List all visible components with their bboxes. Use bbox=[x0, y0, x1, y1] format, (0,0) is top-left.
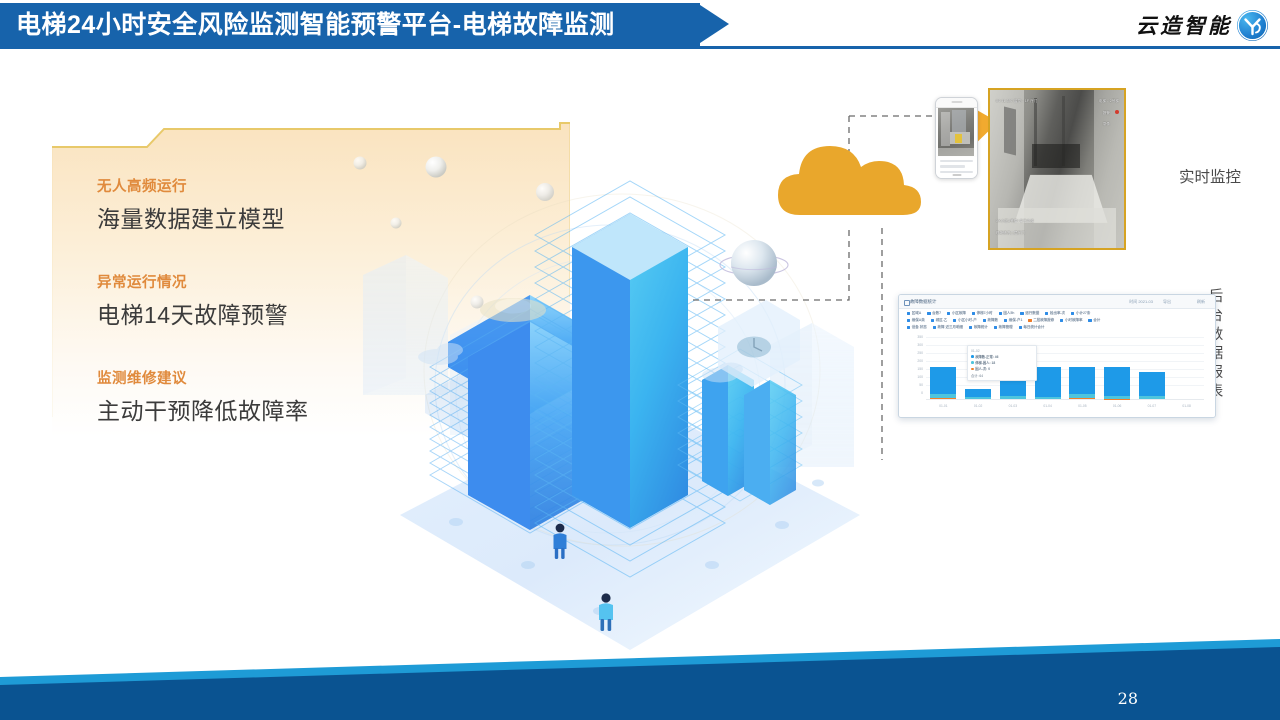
y-tick: 0 bbox=[907, 391, 923, 395]
filter-chip[interactable]: 停梯7小时 bbox=[972, 311, 993, 316]
bar-segment bbox=[1139, 372, 1165, 396]
slide: 电梯24小时安全风险监测智能预警平台-电梯故障监测 云造智能 bbox=[0, 0, 1280, 720]
filter-chip[interactable]: 小区小时-户 bbox=[953, 318, 976, 323]
filter-chip[interactable]: 台数7 bbox=[927, 311, 941, 316]
phone-info-panel bbox=[936, 157, 977, 178]
tooltip-header: 01-02 bbox=[971, 349, 1033, 353]
dashboard-window-title: 故障数据统计 bbox=[910, 299, 936, 305]
tooltip-item: 困人-次: 0 bbox=[971, 366, 1033, 371]
phone-info-line bbox=[940, 160, 973, 162]
y-tick: 150 bbox=[907, 367, 923, 371]
filter-chip[interactable]: 故障数 bbox=[983, 318, 998, 323]
header-rule bbox=[0, 46, 1280, 49]
filter-chip[interactable]: 小区故障 bbox=[947, 311, 966, 316]
bar-segment bbox=[1139, 396, 1165, 400]
bar-column[interactable] bbox=[1104, 343, 1130, 399]
chart-tooltip: 01-02 故障数-正常: 46 停梯-困人: 18 困人-次: 0 合计: 6… bbox=[967, 345, 1037, 381]
filter-chip[interactable]: 每日统计合计 bbox=[1019, 325, 1045, 330]
realtime-monitor-label: 实时监控 bbox=[1179, 165, 1241, 187]
filter-chip[interactable]: 设备 状态 bbox=[907, 325, 927, 330]
tooltip-footer: 合计: 64 bbox=[971, 373, 1033, 378]
bar-column[interactable] bbox=[930, 343, 956, 399]
brand-name: 云造智能 bbox=[1136, 10, 1232, 40]
dashboard-titlebar: 故障数据统计 时间 2021-03 导出 刷新 bbox=[899, 295, 1215, 309]
bar-column[interactable] bbox=[1139, 343, 1165, 399]
backend-dashboard-window[interactable]: 故障数据统计 时间 2021-03 导出 刷新 区域A 台数7 小区故障 停梯7… bbox=[898, 294, 1216, 418]
filter-row: 维保A类 城区-乙 小区小时-户 故障数 维保-户1 二层故障报修 小时故障率 … bbox=[907, 318, 1207, 323]
filter-chip[interactable]: 故障统计 bbox=[969, 325, 988, 330]
filter-chip[interactable]: 区域A bbox=[907, 311, 921, 316]
photo-overlay-bottom-1: XX小区3号楼1单元电梯 bbox=[996, 218, 1034, 223]
smartphone-live-view bbox=[935, 97, 978, 179]
x-tick: 01-04 bbox=[1035, 404, 1061, 408]
slide-header: 电梯24小时安全风险监测智能预警平台-电梯故障监测 云造智能 bbox=[0, 0, 1280, 52]
photo-overlay-right-3: 录像 bbox=[1103, 121, 1110, 126]
photo-overlay-right-2: 报警 bbox=[1103, 110, 1110, 115]
photo-overlay-bottom-2: 现场情况二层厅门 bbox=[996, 230, 1025, 235]
y-tick: 300 bbox=[907, 343, 923, 347]
bar-segment bbox=[1035, 367, 1061, 396]
filter-chip[interactable]: 故障 近三月明细 bbox=[933, 325, 963, 330]
bar-column[interactable] bbox=[1069, 343, 1095, 399]
filter-chip[interactable]: 故障管理 bbox=[994, 325, 1013, 330]
photo-overlay-top: 04:41:397 监控 - 1F 厅门 bbox=[996, 98, 1038, 103]
bar-segment bbox=[930, 398, 956, 400]
photo-overlay-right-1: 电梯 - 2号梯 bbox=[1099, 98, 1119, 103]
page-number: 28 bbox=[1118, 689, 1138, 708]
filter-chip[interactable]: 运行数据 bbox=[1020, 311, 1039, 316]
bar-segment bbox=[965, 389, 991, 396]
fault-statistics-bar-chart: 350 300 250 200 150 100 50 0 01-0101-020… bbox=[907, 335, 1207, 409]
x-tick: 01-01 bbox=[930, 404, 956, 408]
bar-segment bbox=[965, 397, 991, 400]
filter-chip[interactable]: 小计27条 bbox=[1071, 311, 1090, 316]
x-tick: 01-03 bbox=[1000, 404, 1026, 408]
photo-shaft-dark bbox=[1032, 144, 1080, 168]
filter-chip[interactable]: 二层故障报修 bbox=[1028, 318, 1054, 323]
dashboard-toolbar-refresh[interactable]: 刷新 bbox=[1197, 299, 1205, 305]
photo-floor-front bbox=[998, 208, 1116, 248]
filter-row: 设备 状态 故障 近三月明细 故障统计 故障管理 每日统计合计 bbox=[907, 325, 1207, 330]
filter-row: 区域A 台数7 小区故障 停梯7小时 困人5h 运行数据 检出率-次 小计27条 bbox=[907, 311, 1207, 316]
x-tick: 01-07 bbox=[1139, 404, 1165, 408]
y-tick: 200 bbox=[907, 359, 923, 363]
slide-footer: 28 bbox=[0, 625, 1280, 720]
y-tick: 100 bbox=[907, 375, 923, 379]
filter-chip[interactable]: 城区-乙 bbox=[931, 318, 947, 323]
bar-segment bbox=[1069, 398, 1095, 400]
phone-info-line bbox=[940, 171, 973, 173]
tooltip-item: 故障数-正常: 46 bbox=[971, 354, 1033, 359]
filter-chip[interactable]: 维保-户1 bbox=[1004, 318, 1022, 323]
bar-segment bbox=[1104, 399, 1130, 400]
phone-info-line bbox=[940, 165, 965, 167]
x-tick: 01-05 bbox=[1069, 404, 1095, 408]
photo-record-indicator-icon bbox=[1115, 110, 1119, 114]
y-tick: 350 bbox=[907, 335, 923, 339]
dashboard-toolbar-export[interactable]: 导出 bbox=[1163, 299, 1171, 305]
bar-segment bbox=[1104, 367, 1130, 396]
y-tick: 50 bbox=[907, 383, 923, 387]
bar-segment bbox=[930, 367, 956, 395]
bar-segment bbox=[1069, 367, 1095, 394]
isometric-smart-city-illustration bbox=[330, 95, 930, 675]
y-tick: 250 bbox=[907, 351, 923, 355]
filter-chip[interactable]: 检出率-次 bbox=[1045, 311, 1065, 316]
filter-chip[interactable]: 困人5h bbox=[999, 311, 1015, 316]
x-tick: 01-06 bbox=[1104, 404, 1130, 408]
filter-chip[interactable]: 合计 bbox=[1088, 318, 1100, 323]
phone-camera-feed bbox=[938, 108, 974, 156]
bar-column[interactable] bbox=[1035, 343, 1061, 399]
x-tick: 01-08 bbox=[1174, 404, 1200, 408]
phone-earpiece bbox=[936, 98, 977, 108]
brand-logo: 云造智能 bbox=[1136, 6, 1268, 44]
x-tick: 01-02 bbox=[965, 404, 991, 408]
filter-chip[interactable]: 小时故障率 bbox=[1060, 318, 1082, 323]
filter-chip[interactable]: 维保A类 bbox=[907, 318, 925, 323]
bar-segment bbox=[1035, 397, 1061, 400]
bar-segment bbox=[1000, 396, 1026, 399]
yz-circle-logo-icon bbox=[1237, 10, 1268, 41]
elevator-cctv-photo: 04:41:397 监控 - 1F 厅门 电梯 - 2号梯 报警 录像 XX小区… bbox=[988, 88, 1126, 250]
phone-home-indicator bbox=[952, 174, 961, 176]
page-title: 电梯24小时安全风险监测智能预警平台-电梯故障监测 bbox=[16, 6, 676, 44]
dashboard-toolbar-time[interactable]: 时间 2021-03 bbox=[1129, 299, 1153, 305]
dashboard-filter-chips: 区域A 台数7 小区故障 停梯7小时 困人5h 运行数据 检出率-次 小计27条… bbox=[907, 311, 1207, 332]
bar-column[interactable] bbox=[1174, 343, 1200, 399]
x-axis bbox=[926, 399, 1204, 400]
x-axis-labels: 01-0101-0201-0301-0401-0501-0601-0701-08 bbox=[926, 404, 1204, 408]
phone-speaker-icon bbox=[951, 101, 962, 103]
header-arrow-icon bbox=[697, 3, 729, 45]
tooltip-item: 停梯-困人: 18 bbox=[971, 360, 1033, 365]
